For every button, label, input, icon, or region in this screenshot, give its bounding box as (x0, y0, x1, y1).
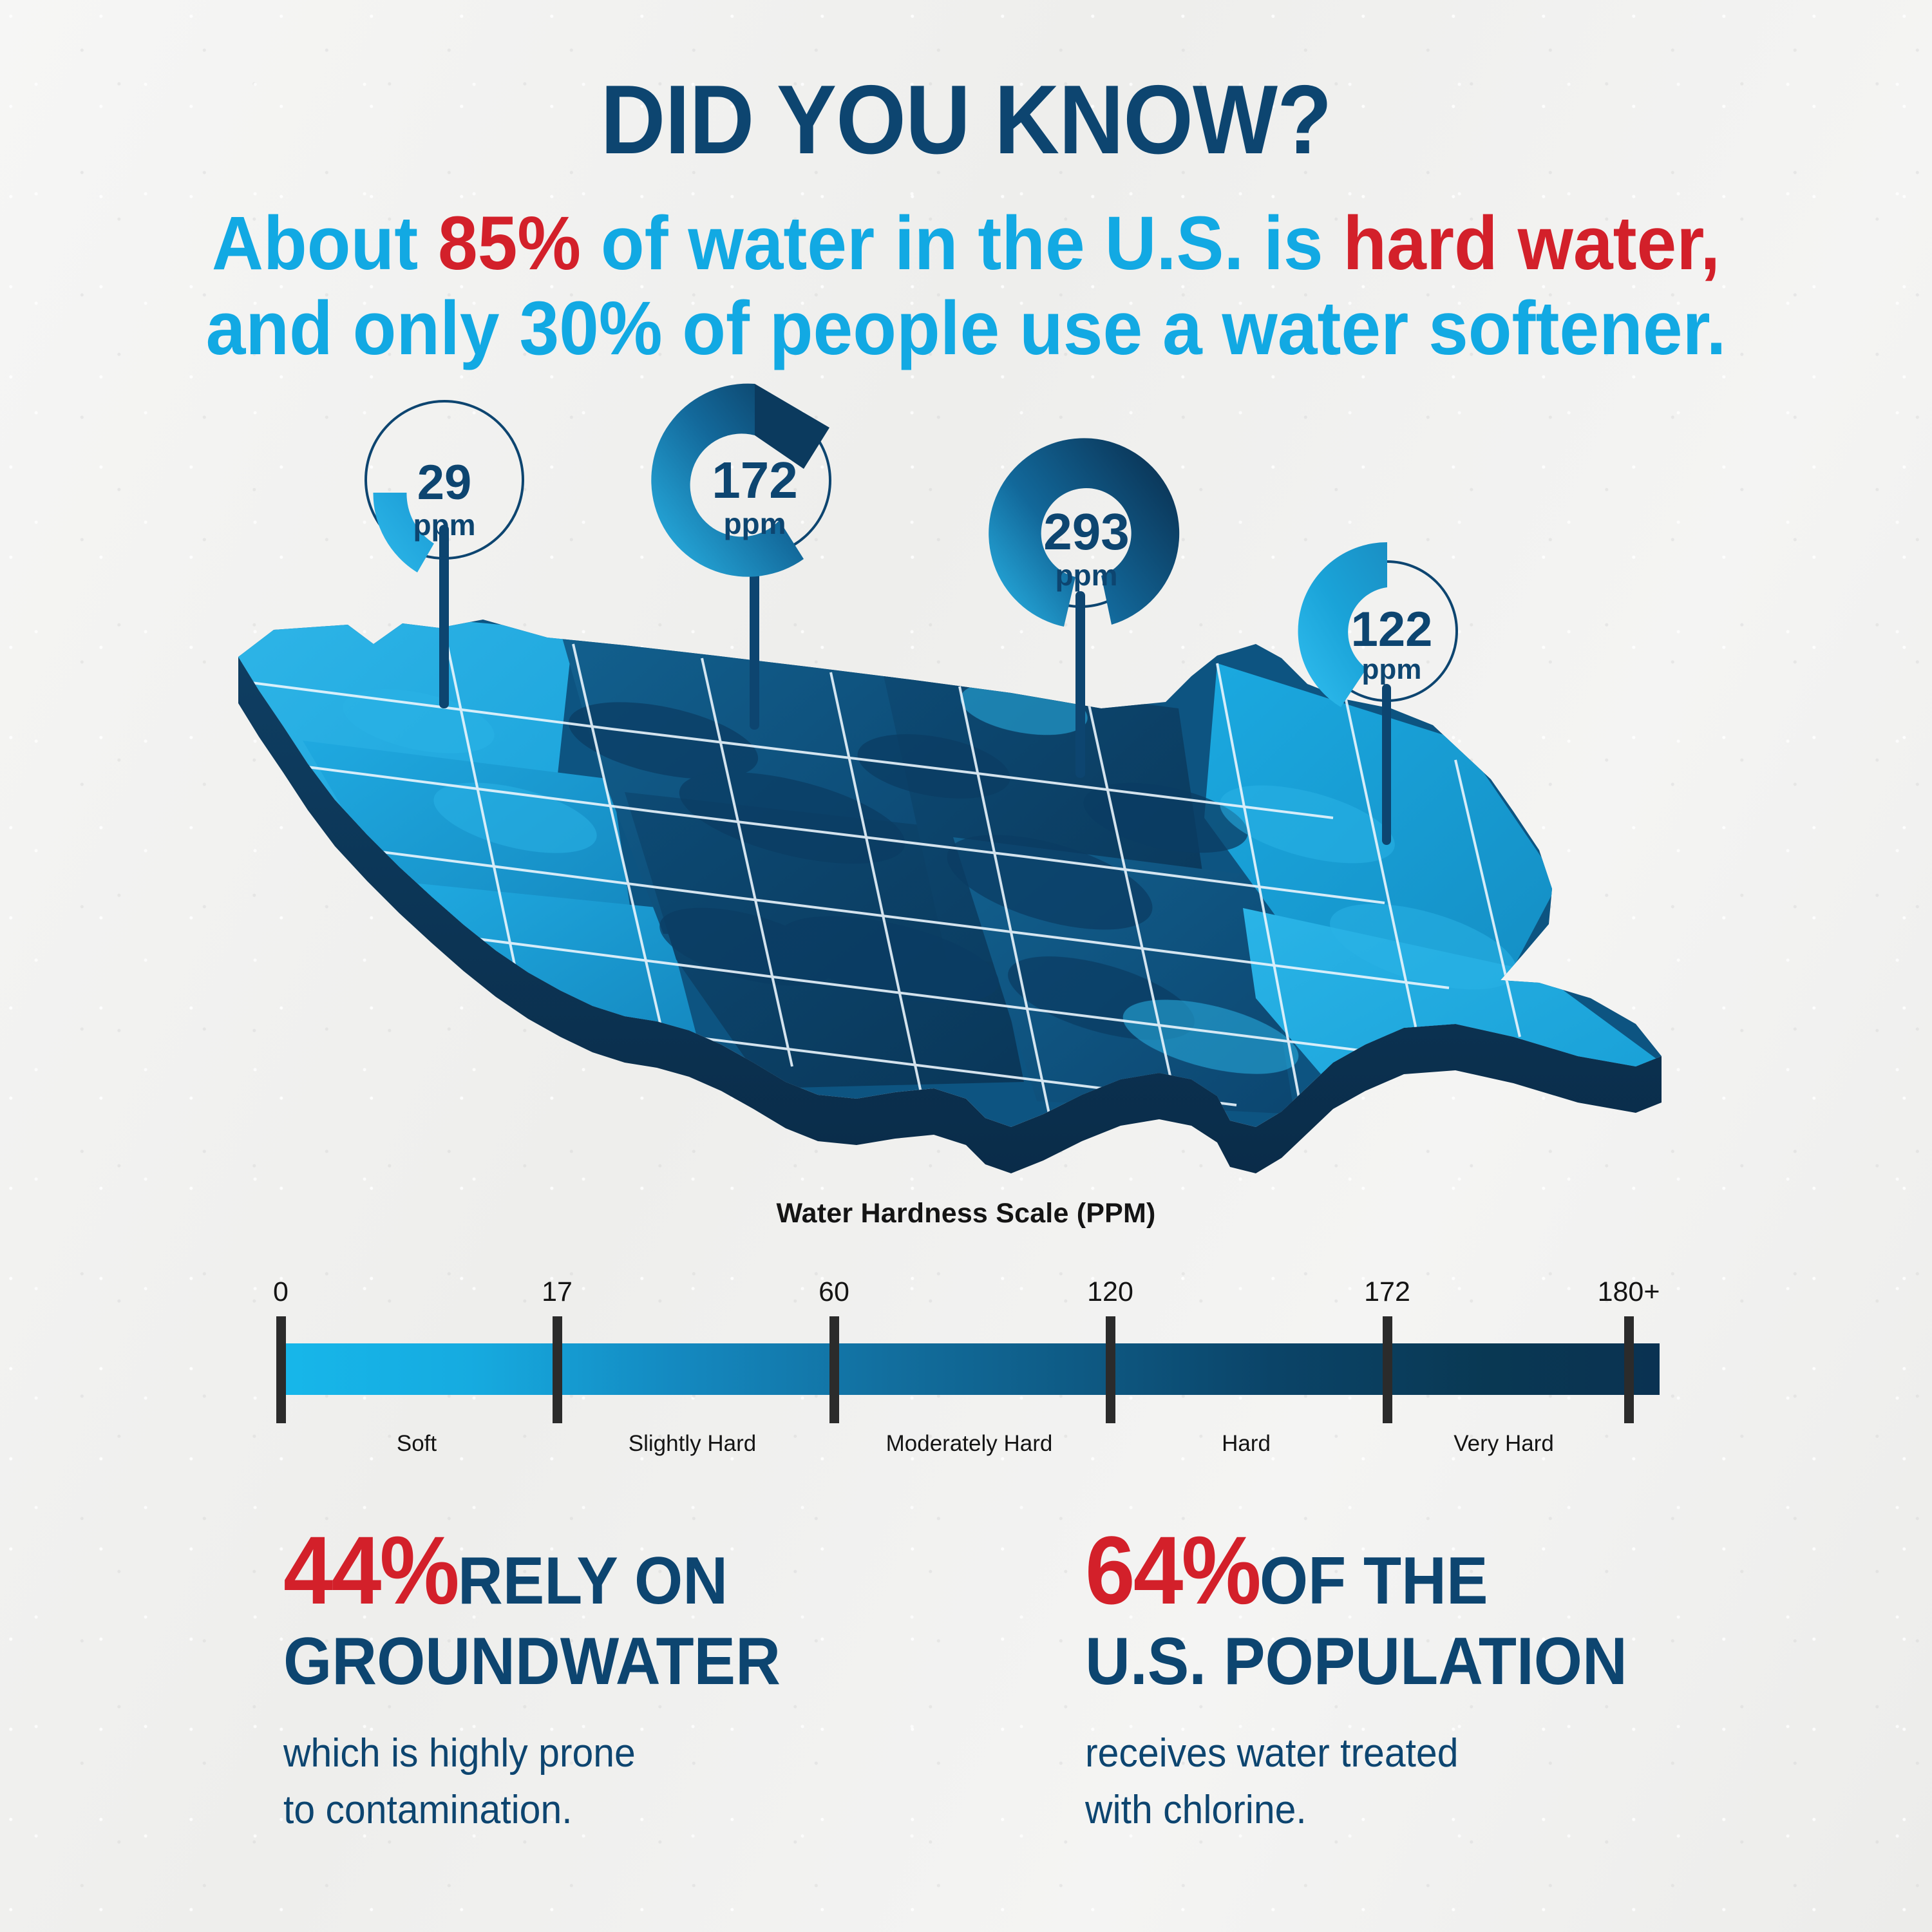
scale-tick-17: 17 (553, 1316, 562, 1423)
callout-value: 172 (645, 455, 864, 506)
scale-tick-label: 0 (273, 1276, 289, 1308)
stat-sub-line2: to contamination. (283, 1784, 932, 1837)
callout-value: 29 (341, 459, 547, 507)
scale-tick-180: 180+ (1624, 1316, 1634, 1423)
scale-tick-label: 172 (1364, 1276, 1410, 1308)
scale-band-hard: Hard (1222, 1431, 1271, 1457)
callout-unit: ppm (974, 560, 1199, 590)
scale-gradient-bar (276, 1343, 1660, 1395)
scale-track: 0 17 60 120 172 180+ Soft Slightly Hard … (267, 1291, 1665, 1445)
scale-tick-60: 60 (829, 1316, 839, 1423)
headline-of-water: of water in the U.S. is (581, 201, 1343, 286)
scale-tick-120: 120 (1106, 1316, 1115, 1423)
scale-band-slightly-hard: Slightly Hard (629, 1431, 756, 1457)
stat-percent: 64% (1085, 1516, 1260, 1624)
scale-tick-label: 17 (542, 1276, 573, 1308)
callout-value: 293 (974, 506, 1199, 558)
scale-tick-label: 60 (819, 1276, 849, 1308)
us-water-hardness-map: 29 ppm 172 ppm (0, 399, 1932, 1211)
stat-sub-line1: which is highly prone (283, 1727, 932, 1780)
scale-band-moderately-hard: Moderately Hard (886, 1431, 1053, 1457)
callout-122ppm[interactable]: 122 ppm (1285, 536, 1498, 884)
callout-29ppm[interactable]: 29 ppm (341, 399, 547, 760)
stat-headline-line1: 64%OF THE (1085, 1520, 1873, 1620)
header: DID YOU KNOW? About 85% of water in the … (0, 0, 1932, 371)
stat-percent: 44% (283, 1516, 458, 1624)
stat-headline-line2: U.S. POPULATION (1085, 1625, 1873, 1698)
stat-headline-rest: RELY ON (458, 1544, 728, 1618)
headline-line-1: About 85% of water in the U.S. is hard w… (58, 201, 1874, 286)
callout-stem (1075, 591, 1085, 778)
callout-stem (1382, 684, 1391, 845)
callout-unit: ppm (645, 509, 864, 538)
scale-tick-0: 0 (276, 1316, 286, 1423)
stat-sub-line2: with chlorine. (1085, 1784, 1889, 1837)
stat-headline-rest: OF THE (1260, 1544, 1488, 1618)
callout-stem (439, 525, 449, 708)
callout-unit: ppm (341, 510, 547, 540)
scale-tick-172: 172 (1383, 1316, 1392, 1423)
headline-line-2: and only 30% of people use a water softe… (58, 286, 1874, 371)
callout-value: 122 (1285, 605, 1498, 654)
headline-85-percent: 85% (438, 201, 581, 286)
stat-groundwater: 44%RELY ON GROUNDWATER which is highly p… (0, 1520, 966, 1837)
stat-headline-line1: 44%RELY ON (283, 1520, 918, 1620)
scale-title: Water Hardness Scale (PPM) (0, 1198, 1932, 1229)
bottom-stats: 44%RELY ON GROUNDWATER which is highly p… (0, 1520, 1932, 1837)
water-hardness-scale: Water Hardness Scale (PPM) 0 17 60 120 1… (0, 1198, 1932, 1445)
scale-tick-label: 180+ (1598, 1276, 1660, 1308)
callout-172ppm[interactable]: 172 ppm (645, 372, 864, 772)
scale-tick-label: 120 (1087, 1276, 1133, 1308)
scale-band-soft: Soft (397, 1431, 437, 1457)
headline-about: About (212, 201, 438, 286)
page-title: DID YOU KNOW? (77, 71, 1855, 169)
stat-sub-line1: receives water treated (1085, 1727, 1889, 1780)
stat-headline-line2: GROUNDWATER (283, 1625, 918, 1698)
headline-hard-water: hard water, (1343, 201, 1720, 286)
callout-unit: ppm (1285, 656, 1498, 684)
stat-chlorine: 64%OF THE U.S. POPULATION receives water… (966, 1520, 1932, 1837)
scale-band-very-hard: Very Hard (1454, 1431, 1554, 1457)
callout-293ppm[interactable]: 293 ppm (974, 430, 1199, 817)
